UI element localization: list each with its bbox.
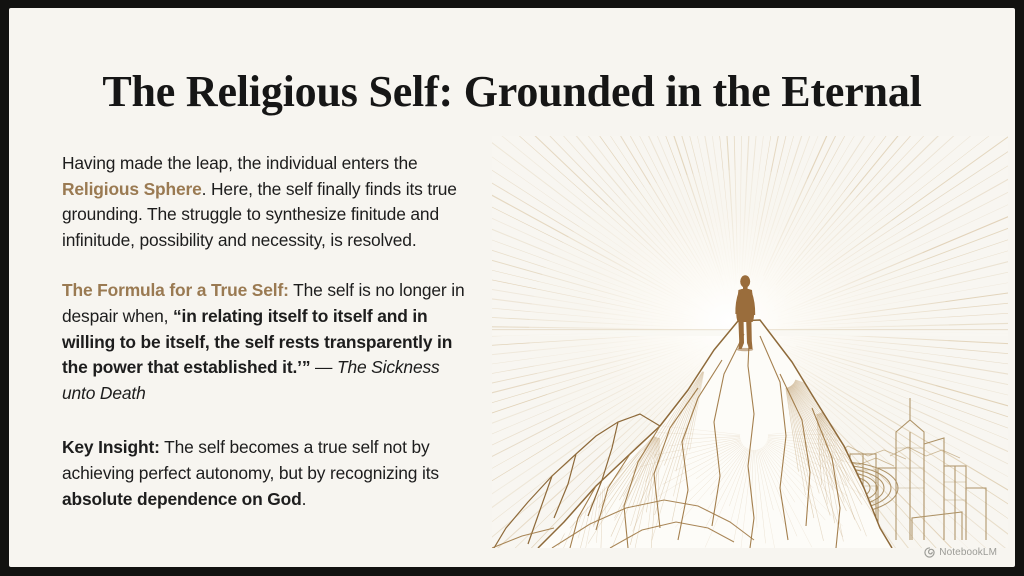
illustration-svg bbox=[492, 136, 1008, 548]
key-insight-lead-in: Key Insight: bbox=[62, 437, 160, 457]
watermark-label: NotebookLM bbox=[939, 547, 997, 558]
absolute-dependence-emphasis: absolute dependence on God bbox=[62, 489, 302, 509]
mountain-peak-illustration bbox=[492, 136, 1008, 548]
formula-lead-in: The Formula for a True Self: bbox=[62, 280, 289, 300]
quote-dash: — bbox=[310, 357, 337, 377]
paragraph-formula-for-true-self: The Formula for a True Self: The self is… bbox=[62, 278, 477, 406]
paragraph-key-insight: Key Insight: The self becomes a true sel… bbox=[62, 435, 477, 512]
slide-frame: The Religious Self: Grounded in the Eter… bbox=[0, 0, 1024, 576]
religious-sphere-highlight: Religious Sphere bbox=[62, 179, 202, 199]
page-title: The Religious Self: Grounded in the Eter… bbox=[9, 66, 1015, 117]
paragraph-1-text-before: Having made the leap, the individual ent… bbox=[62, 153, 418, 173]
paragraph-religious-sphere: Having made the leap, the individual ent… bbox=[62, 151, 477, 253]
notebooklm-watermark: NotebookLM bbox=[924, 547, 997, 558]
notebooklm-spiral-logo-icon bbox=[924, 547, 935, 558]
slide-canvas: The Religious Self: Grounded in the Eter… bbox=[9, 8, 1015, 567]
body-text-column: Having made the leap, the individual ent… bbox=[62, 151, 477, 512]
paragraph-3-text-after: . bbox=[302, 489, 307, 509]
